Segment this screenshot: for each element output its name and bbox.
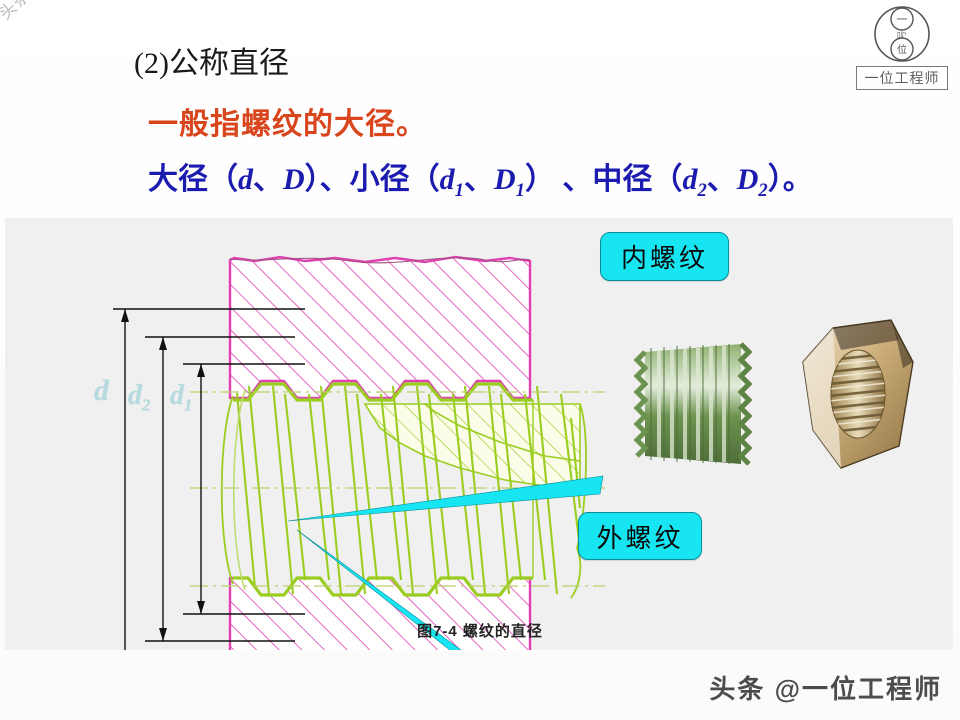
watermark-bottom-right: 头条 @一位工程师 (709, 669, 942, 706)
logo-caption: 一位工程师 (856, 66, 948, 90)
thread-diagram (5, 218, 953, 650)
slide-root: 头条号：一位工程师 一 位 号 一位工程师 (2)公称直径 一般指螺纹的大径。 … (0, 0, 960, 720)
dim-d1-sub: 1 (184, 396, 192, 415)
svg-text:位: 位 (897, 43, 907, 56)
brand-logo: 一 位 号 一位工程师 (854, 4, 950, 96)
dimension-label-pitch-d2: d2 (128, 380, 150, 416)
symbol-d2-base: d (682, 163, 697, 196)
subtitle-red: 一般指螺纹的大径。 (148, 99, 427, 143)
dim-d2-base: d (128, 380, 142, 411)
svg-text:一: 一 (897, 14, 908, 26)
blue-sep-3: 、 (707, 163, 737, 196)
svg-text:号: 号 (897, 30, 907, 39)
figure-panel (5, 218, 953, 650)
blue-sep-1: 、 (253, 163, 283, 196)
page-title: (2)公称直径 (134, 38, 289, 82)
blue-mid-2: ） 、中径（ (525, 163, 683, 196)
symbol-d1-base: d (440, 163, 455, 196)
symbol-D: D (283, 163, 305, 196)
blue-sep-2: 、 (464, 163, 494, 196)
blue-mid-1: ）、小径（ (305, 163, 440, 196)
hex-nut-photo (803, 320, 913, 468)
dimension-label-major-d: d (94, 374, 109, 408)
blue-suffix: ）。 (768, 163, 813, 196)
symbol-d1-sub: 1 (455, 180, 464, 201)
symbol-d2-sub: 2 (697, 180, 706, 201)
symbol-D2-base: D (737, 163, 759, 196)
callout-leader-inner (288, 476, 603, 521)
logo-mark-icon: 一 位 号 (854, 4, 950, 68)
blue-prefix: 大径（ (148, 163, 238, 196)
symbol-D1-base: D (494, 163, 516, 196)
callout-internal-thread[interactable]: 内螺纹 (600, 232, 729, 281)
callout-external-thread[interactable]: 外螺纹 (578, 512, 702, 560)
dim-d1-base: d (170, 380, 184, 411)
diameter-definition-line: 大径（d、D）、小径（d1、D1） 、中径（d2、D2）。 (148, 154, 813, 202)
symbol-D2-sub: 2 (758, 180, 767, 201)
dim-d-base: d (94, 374, 109, 407)
dim-d2-sub: 2 (142, 396, 150, 415)
watermark-top-left: 头条号：一位工程师 (0, 0, 163, 24)
internal-thread-top-section (230, 257, 530, 398)
figure-caption: 图7-4 螺纹的直径 (0, 620, 960, 641)
dimension-label-minor-d1: d1 (170, 380, 192, 416)
symbol-d: d (238, 163, 253, 196)
symbol-D1-sub: 1 (516, 180, 525, 201)
stud-photo (637, 344, 749, 464)
